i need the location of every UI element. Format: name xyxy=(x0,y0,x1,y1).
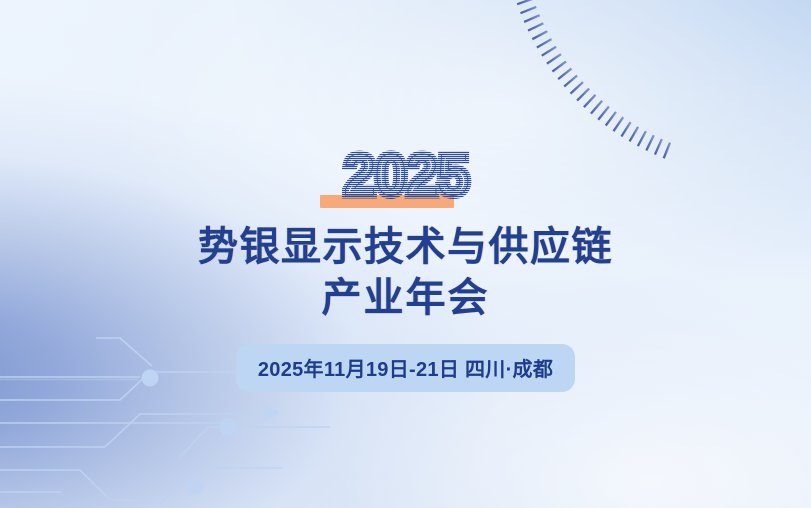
event-banner: 2025 2025 势银显示技术与供应链 产业年会 2025年11月19日-21… xyxy=(0,0,811,508)
year-2025-striped-text: 2025 2025 xyxy=(311,146,501,208)
banner-title-line-1: 势银显示技术与供应链 xyxy=(198,222,613,273)
banner-content: 2025 2025 势银显示技术与供应链 产业年会 2025年11月19日-21… xyxy=(0,0,811,508)
banner-title-line-2: 产业年会 xyxy=(198,273,613,324)
banner-title: 势银显示技术与供应链 产业年会 xyxy=(198,222,613,324)
year-mark: 2025 2025 xyxy=(311,146,501,208)
date-location-badge: 2025年11月19日-21日 四川·成都 xyxy=(236,344,575,392)
year-text: 2025 xyxy=(343,146,468,208)
